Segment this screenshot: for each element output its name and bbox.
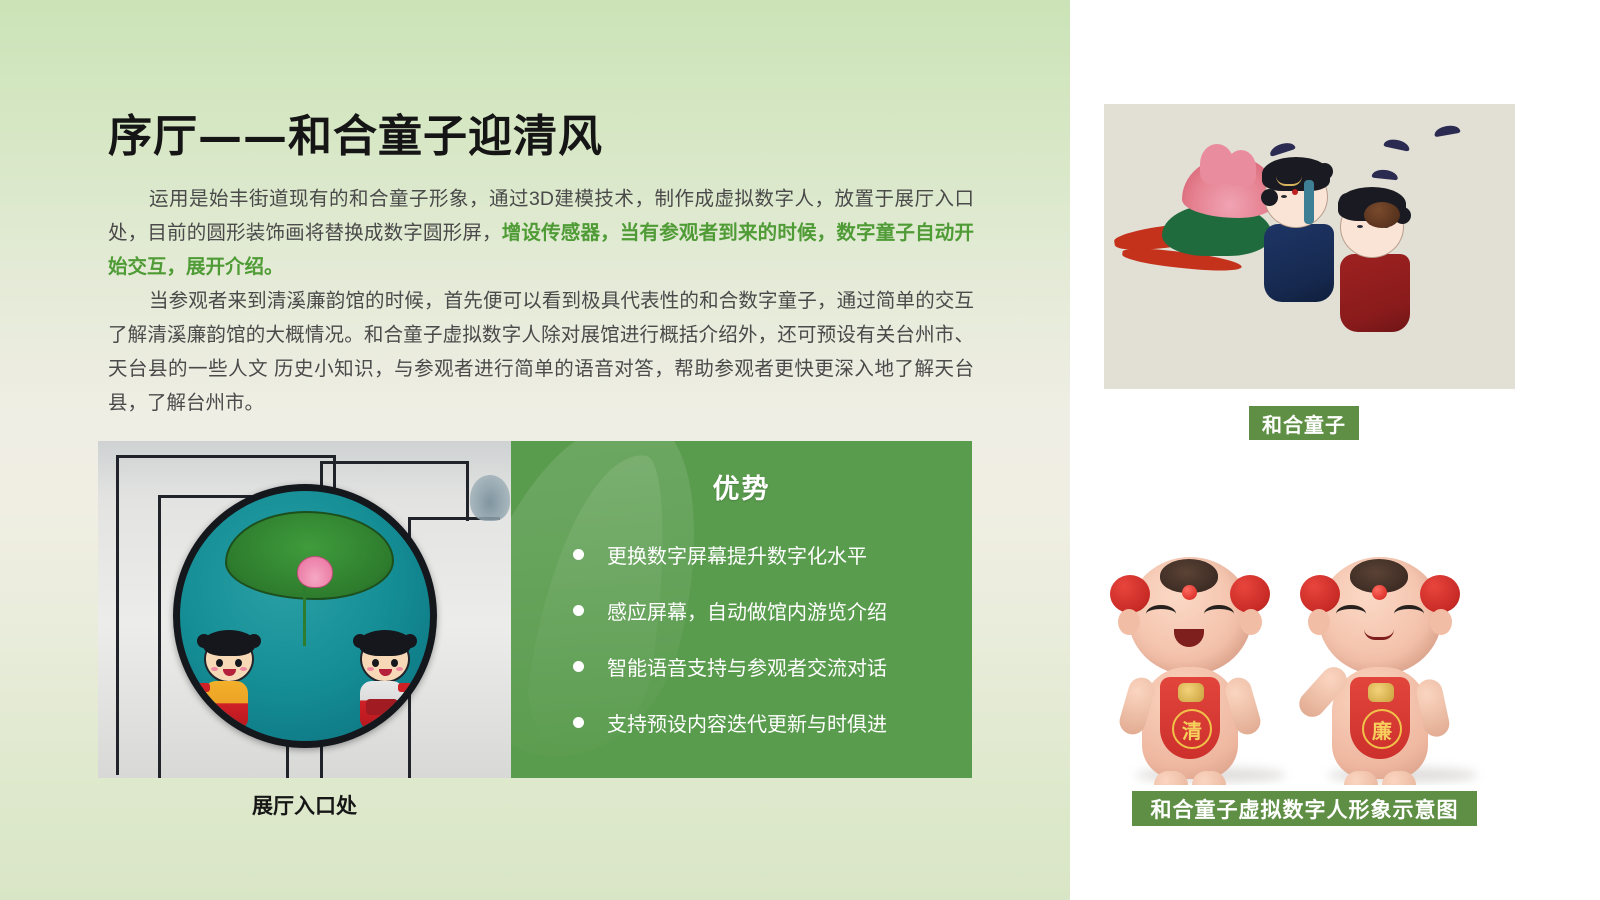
child-head [360, 635, 410, 683]
doll-arm [1117, 675, 1158, 738]
render-caption-badge: 和合童子虚拟数字人形象示意图 [1132, 791, 1477, 826]
bat-icon [1433, 124, 1460, 137]
child-eye [235, 659, 242, 667]
doll-bib: 廉 [1350, 677, 1410, 759]
artwork-child-left [204, 635, 254, 729]
forehead-dot [1372, 585, 1387, 600]
doll-arm-waving [1294, 662, 1352, 722]
doll-eye [1204, 605, 1234, 623]
doll-arm [1223, 675, 1264, 738]
child-ribbon [192, 683, 210, 692]
advantages-heading: 优势 [511, 467, 972, 506]
list-item: 感应屏幕，自动做馆内游览介绍 [511, 596, 972, 625]
child-hair-bun [1339, 193, 1356, 210]
bullet-dot-icon [573, 605, 584, 616]
doll-bib: 清 [1160, 677, 1220, 759]
child-hair-bun [1261, 189, 1278, 206]
page-title: 序厅——和合童子迎清风 [108, 100, 603, 164]
child-eye [372, 659, 379, 667]
child-cheek [211, 667, 218, 671]
child-hair-bun [197, 634, 211, 648]
lotus-petal [1226, 150, 1256, 186]
child-eye [1281, 195, 1287, 198]
ink-painting-detail [470, 475, 510, 521]
doll-hair-bun [1230, 575, 1270, 613]
child-ribbon [398, 683, 416, 692]
list-item-label: 智能语音支持与参观者交流对话 [607, 652, 887, 681]
child-blue-robe [1264, 224, 1334, 302]
bullet-dot-icon [573, 717, 584, 728]
list-item-label: 更换数字屏幕提升数字化水平 [607, 540, 867, 569]
doll-eye [1336, 605, 1366, 623]
bat-icon [1383, 137, 1410, 151]
wall-line [320, 461, 468, 464]
paragraph-2: 当参观者来到清溪廉韵馆的时候，首先便可以看到极具代表性的和合数字童子，通过简单的… [108, 284, 974, 420]
child-cheek [240, 667, 247, 671]
doll-eye [1394, 605, 1424, 623]
artwork-child-right [360, 635, 410, 729]
child-hair-bun [353, 634, 367, 648]
wall-line [116, 455, 336, 458]
list-item: 支持预设内容迭代更新与时俱进 [511, 708, 972, 737]
list-item-label: 支持预设内容迭代更新与时俱进 [607, 708, 887, 737]
illustration-caption-badge: 和合童子 [1249, 406, 1359, 440]
entrance-photo [98, 441, 511, 778]
doll-hair-bun [1420, 575, 1460, 613]
child-hair-bun [247, 634, 261, 648]
doll-leg [1154, 771, 1188, 785]
doll-arm [1414, 677, 1451, 739]
paragraph-1: 运用是始丰街道现有的和合童子形象，通过3D建模技术，制作成虚拟数字人，放置于展厅… [108, 182, 974, 284]
treasure-box-icon [366, 699, 398, 715]
doll-eye [1146, 605, 1176, 623]
child-cheek [396, 667, 403, 671]
doll-ear [1430, 609, 1452, 635]
media-row: 优势 更换数字屏幕提升数字化水平 感应屏幕，自动做馆内游览介绍 智能语音支持与参… [98, 441, 972, 778]
child-cheek [367, 667, 374, 671]
list-item: 更换数字屏幕提升数字化水平 [511, 540, 972, 569]
child-head [204, 635, 254, 683]
wall-line [466, 461, 469, 521]
wall-line [158, 495, 161, 778]
illustration-figure [1104, 104, 1515, 389]
child-mouth [379, 669, 392, 676]
child-eye [216, 659, 223, 667]
doll-hair-bun [1300, 575, 1340, 613]
doll-head [1318, 557, 1442, 675]
gold-locket-icon [1178, 683, 1204, 702]
illustration-child-red [1340, 196, 1410, 332]
list-item: 智能语音支持与参观者交流对话 [511, 652, 972, 681]
doll-head [1128, 557, 1252, 675]
child-body [204, 681, 248, 729]
child-eye [1357, 225, 1363, 228]
bat-icon [1372, 169, 1399, 181]
forehead-dot [1182, 585, 1197, 600]
doll-leg [1192, 771, 1226, 785]
doll-leg [1344, 771, 1378, 785]
child-hair-bun [403, 634, 417, 648]
forehead-dot [1292, 189, 1298, 195]
gold-locket-icon [1368, 683, 1394, 702]
doll-mouth [1174, 629, 1204, 647]
child-mouth [223, 669, 236, 676]
doll-ear [1118, 609, 1140, 635]
advantages-list: 更换数字屏幕提升数字化水平 感应屏幕，自动做馆内游览介绍 智能语音支持与参观者交… [511, 540, 972, 737]
round-box-icon [1364, 202, 1400, 228]
child-eye [391, 659, 398, 667]
doll-ear [1240, 609, 1262, 635]
list-item-label: 感应屏幕，自动做馆内游览介绍 [607, 596, 887, 625]
bat-icon [1268, 140, 1296, 157]
doll-ear [1308, 609, 1330, 635]
illustration-child-blue [1264, 166, 1334, 302]
render-figure: 清 廉 [1090, 455, 1530, 785]
bullet-dot-icon [573, 661, 584, 672]
wall-line [116, 455, 119, 775]
doll-body: 清 [1142, 667, 1238, 779]
lotus-flower-icon [297, 556, 333, 588]
child-body [360, 681, 404, 729]
digital-child-qing: 清 [1128, 557, 1252, 779]
advantages-panel: 优势 更换数字屏幕提升数字化水平 感应屏幕，自动做馆内游览介绍 智能语音支持与参… [511, 441, 972, 778]
bib-character: 清 [1172, 709, 1212, 749]
circular-artwork [173, 484, 437, 748]
bullet-dot-icon [573, 549, 584, 560]
child-red-robe [1340, 254, 1410, 332]
bib-character: 廉 [1362, 709, 1402, 749]
body-text-block: 运用是始丰街道现有的和合童子形象，通过3D建模技术，制作成虚拟数字人，放置于展厅… [108, 182, 974, 420]
digital-child-lian: 廉 [1318, 557, 1442, 779]
doll-mouth [1364, 629, 1394, 640]
photo-caption: 展厅入口处 [98, 790, 511, 820]
doll-leg [1382, 771, 1416, 785]
child-hair-bun [1316, 163, 1333, 180]
left-content-panel: 序厅——和合童子迎清风 运用是始丰街道现有的和合童子形象，通过3D建模技术，制作… [0, 0, 1070, 900]
slide-root: 序厅——和合童子迎清风 运用是始丰街道现有的和合童子形象，通过3D建模技术，制作… [0, 0, 1600, 900]
lotus-stem [303, 586, 306, 646]
doll-hair-bun [1110, 575, 1150, 613]
robe-sash [1304, 180, 1314, 224]
doll-body: 廉 [1332, 667, 1428, 779]
